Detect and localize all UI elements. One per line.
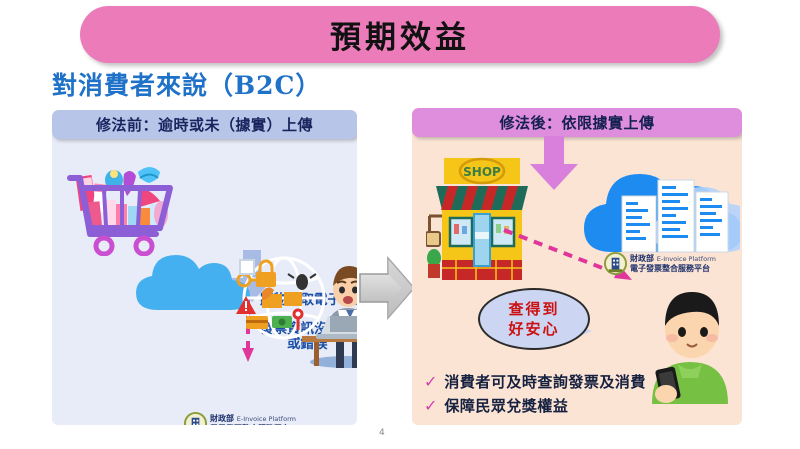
panel-after-header: 修法後：依限據實上傳 [412,108,742,137]
worried-person-laptop-icon [302,250,357,368]
logo-org-en-after: E-Invoice Platform [657,255,716,263]
ministry-seal-icon [604,252,627,275]
bubble-line-2: 好安心 [508,319,559,339]
list-item: ✓ 保障民眾兌獎權益 [424,396,742,416]
bullet-after-1: 消費者可及時查詢發票及消費 [444,372,646,392]
bullet-after-2: 保障民眾兌獎權益 [444,396,568,416]
logo-org-after: 財政部 E-Invoice Platform [630,254,716,265]
bubble-line-1: 查得到 [508,299,559,319]
logo-org-cn-after: 財政部 [630,254,654,263]
shopping-cart-icon [60,148,185,256]
page-title: 預期效益 [330,12,470,57]
panel-before-header: 修法前：逾時或未（據實）上傳 [52,110,357,139]
panel-after-amendment: 修法後：依限據實上傳 SHOP [412,108,742,425]
bullet-list-after: ✓ 消費者可及時查詢發票及消費 ✓ 保障民眾兌獎權益 [424,372,742,420]
list-item: ✓ 消費者可及時查詢發票及消費 [424,372,742,392]
logo-subtitle-before: 電子發票整合服務平台 [210,424,296,425]
check-icon: ✓ [424,396,437,415]
slide-canvas: 預期效益 對消費者來說（B2C） 修法前：逾時或未（據實）上傳 [0,0,800,449]
speech-bubble: 查得到 好安心 [478,288,590,350]
panel-before-amendment: 修法前：逾時或未（據實）上傳 [52,110,357,425]
page-number: 4 [379,428,385,438]
einvoice-logo-text-before: 財政部 E-Invoice Platform 電子發票整合服務平台 [210,414,296,426]
right-arrow-icon [358,252,416,324]
logo-org-before: 財政部 E-Invoice Platform [210,414,296,425]
section-heading: 對消費者來說（B2C） [52,66,321,102]
einvoice-logo-text-after: 財政部 E-Invoice Platform 電子發票整合服務平台 [630,254,716,274]
check-icon: ✓ [424,372,437,391]
slide-title-banner: 預期效益 [80,6,720,63]
logo-org-en-before: E-Invoice Platform [237,415,296,423]
einvoice-logo-before: 財政部 E-Invoice Platform 電子發票整合服務平台 [184,412,296,425]
cloud-documents-icon [582,142,740,264]
shop-sign-text: SHOP [463,165,501,179]
logo-subtitle-after: 電子發票整合服務平台 [630,264,716,274]
ministry-seal-icon [184,412,207,425]
logo-org-cn-before: 財政部 [210,414,234,423]
einvoice-logo-after: 財政部 E-Invoice Platform 電子發票整合服務平台 [604,252,716,275]
